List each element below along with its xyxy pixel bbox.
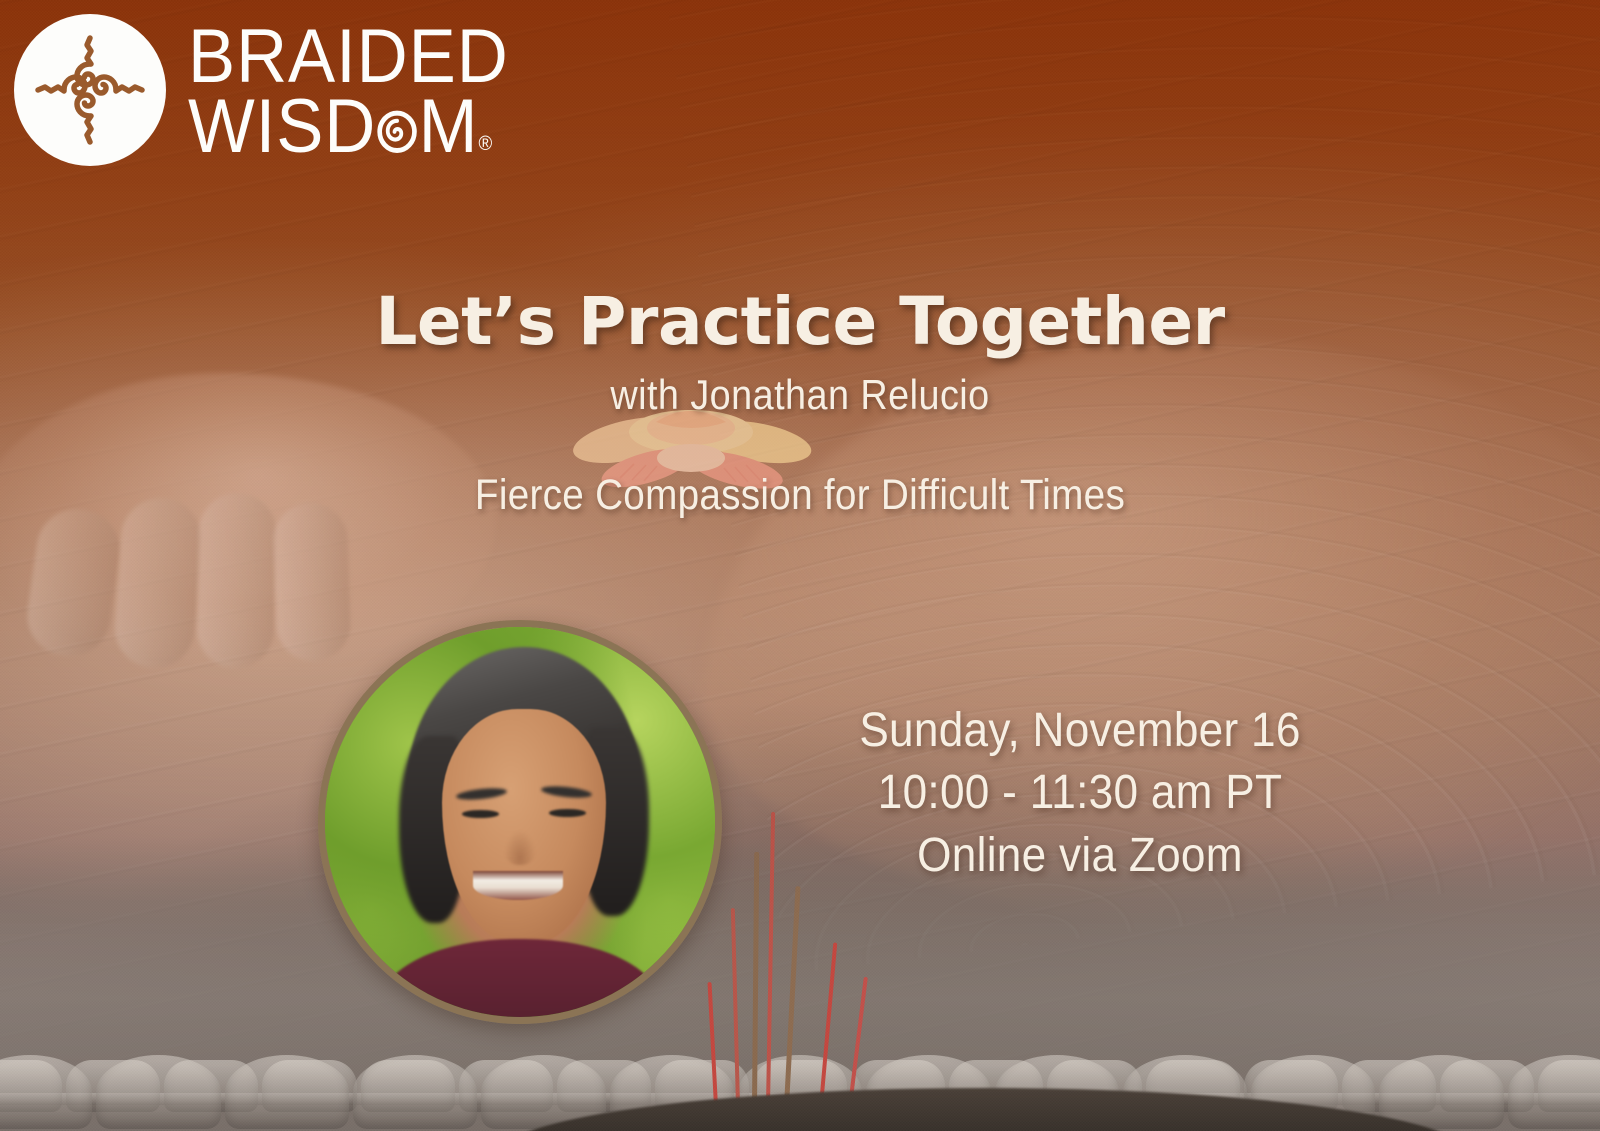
braided-spiral-cross-emblem-icon	[14, 14, 166, 166]
portrait-photo	[325, 627, 715, 1017]
logo-wordmark: BRAIDED WISDM®	[188, 14, 533, 162]
presenter-name: with Jonathan Relucio	[80, 371, 1520, 419]
logo-wisdom-prefix: WISD	[188, 84, 376, 169]
photo-grain	[0, 0, 1600, 1131]
event-details: Sunday, November 16 10:00 - 11:30 am PT …	[790, 700, 1370, 887]
jonathan-relucio-portrait	[318, 620, 722, 1024]
logo-line-wisdom: WISDM®	[188, 92, 509, 162]
portrait-eye-right	[549, 809, 586, 817]
portrait-nose	[504, 830, 535, 865]
event-poster: BRAIDED WISDM® Let’s Practice Together w…	[0, 0, 1600, 1131]
logo-line-braided: BRAIDED	[188, 22, 509, 92]
page-title: Let’s Practice Together	[0, 283, 1600, 360]
event-tagline: Fierce Compassion for Difficult Times	[80, 471, 1520, 520]
portrait-smile	[473, 871, 563, 900]
registered-trademark-icon: ®	[478, 135, 492, 153]
event-location: Online via Zoom	[813, 825, 1347, 887]
logo-wisdom-suffix: M	[419, 84, 479, 169]
braided-wisdom-logo[interactable]: BRAIDED WISDM®	[14, 14, 533, 166]
portrait-face	[442, 709, 606, 943]
portrait-eye-left	[462, 810, 499, 818]
event-time: 10:00 - 11:30 am PT	[813, 762, 1347, 824]
event-date: Sunday, November 16	[813, 700, 1347, 762]
portrait-shirt	[380, 939, 661, 1024]
